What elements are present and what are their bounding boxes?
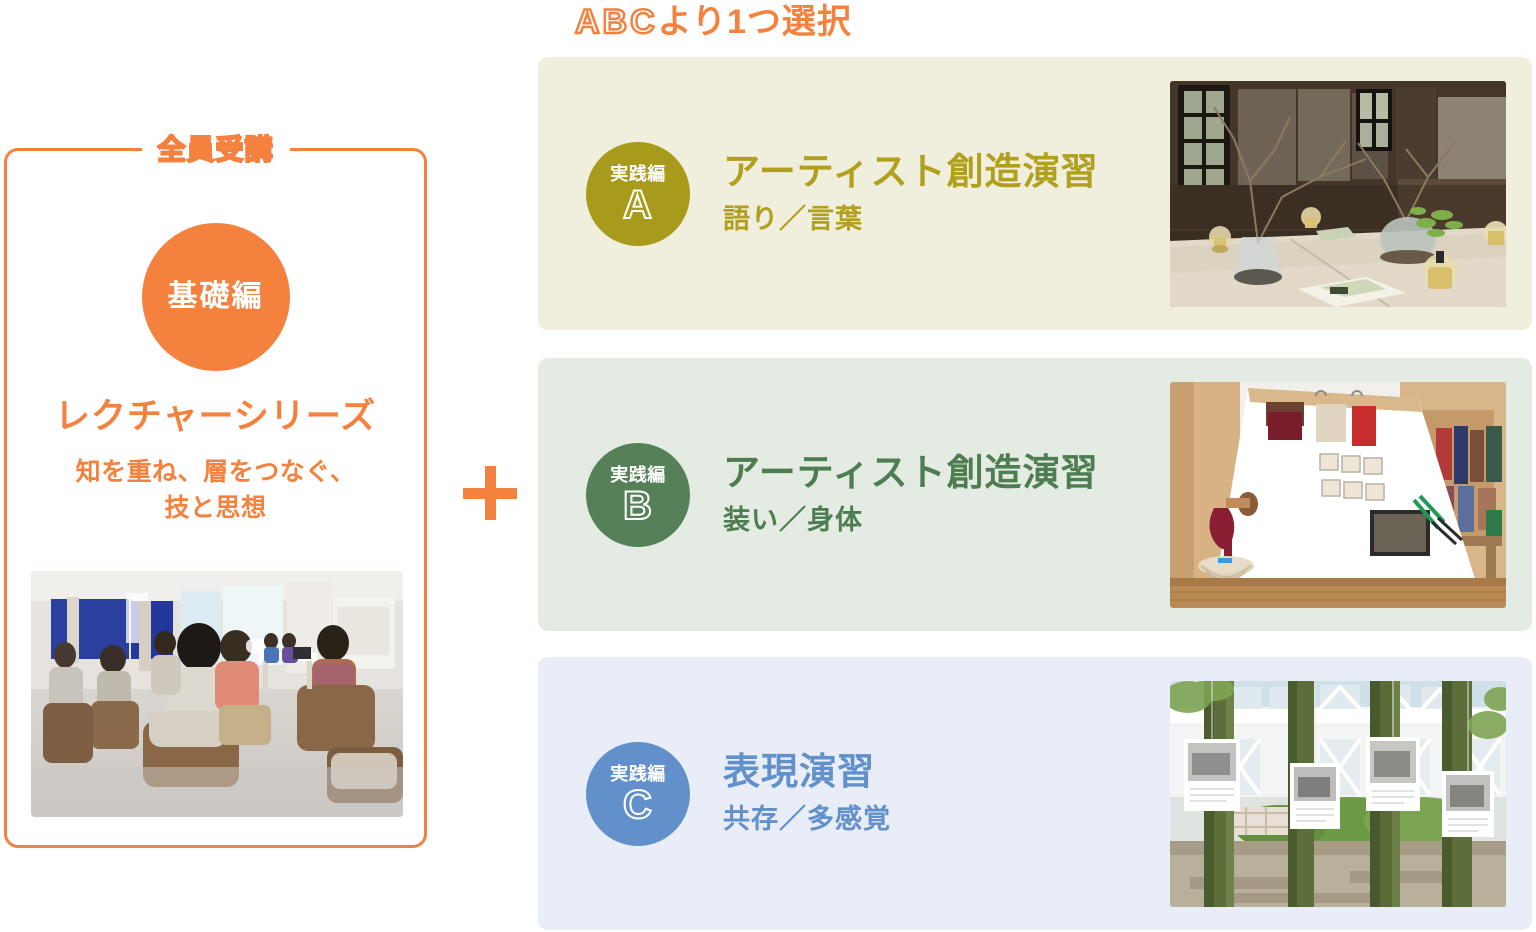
option-b-letter: B xyxy=(623,485,653,527)
all-students-badge: 全員受講 xyxy=(141,131,289,169)
option-b-text: アーティスト創造演習 装い／身体 xyxy=(723,450,1099,540)
base-course-subtitle-line2: 技と思想 xyxy=(7,490,424,526)
option-a-letter: A xyxy=(623,184,653,226)
garment-display-panel-photo-graphic xyxy=(1170,382,1506,608)
option-c-photo xyxy=(1170,681,1506,907)
base-course-photo xyxy=(31,571,403,817)
option-a-badge: 実践編 A xyxy=(586,142,690,246)
option-c-badge: 実践編 C xyxy=(586,742,690,846)
option-c-title: 表現演習 xyxy=(723,749,891,795)
seminar-room-photo-graphic xyxy=(31,571,403,817)
abc-letters: ABC xyxy=(575,3,658,41)
choose-one-text: より1つ選択 xyxy=(658,3,852,41)
option-b-title: アーティスト創造演習 xyxy=(723,450,1099,496)
option-a-text: アーティスト創造演習 語り／言葉 xyxy=(723,149,1099,239)
option-c-letter: C xyxy=(623,784,653,826)
choose-one-heading: ABCより1つ選択 xyxy=(575,2,852,42)
option-card-a[interactable]: 実践編 A アーティスト創造演習 語り／言葉 xyxy=(538,57,1532,330)
base-course-subtitle-line1: 知を重ね、層をつなぐ、 xyxy=(7,454,424,490)
base-course-title: レクチャーシリーズ xyxy=(7,396,424,438)
base-course-subtitle: 知を重ね、層をつなぐ、 技と思想 xyxy=(7,454,424,526)
option-a-kicker: 実践編 xyxy=(610,164,666,184)
option-c-text: 表現演習 共存／多感覚 xyxy=(723,749,891,839)
option-a-title: アーティスト創造演習 xyxy=(723,149,1099,195)
course-structure-diagram: ABCより1つ選択 全員受講 基礎編 レクチャーシリーズ 知を重ね、層をつなぐ、… xyxy=(0,0,1536,932)
option-b-kicker: 実践編 xyxy=(610,465,666,485)
base-course-panel: 全員受講 基礎編 レクチャーシリーズ 知を重ね、層をつなぐ、 技と思想 xyxy=(4,148,427,848)
base-level-label: 基礎編 xyxy=(168,281,264,313)
outdoor-tree-exhibition-photo-graphic xyxy=(1170,681,1506,907)
option-a-photo xyxy=(1170,81,1506,307)
option-b-badge: 実践編 B xyxy=(586,443,690,547)
option-b-subtitle: 装い／身体 xyxy=(723,500,1099,540)
option-c-subtitle: 共存／多感覚 xyxy=(723,799,891,839)
option-c-kicker: 実践編 xyxy=(610,764,666,784)
option-b-photo xyxy=(1170,382,1506,608)
base-level-circle: 基礎編 xyxy=(142,223,290,371)
option-card-b[interactable]: 実践編 B アーティスト創造演習 装い／身体 xyxy=(538,358,1532,631)
option-card-c[interactable]: 実践編 C 表現演習 共存／多感覚 xyxy=(538,657,1532,930)
installation-table-photo-graphic xyxy=(1170,81,1506,307)
plus-connector-icon xyxy=(463,466,517,520)
option-a-subtitle: 語り／言葉 xyxy=(723,199,1099,239)
